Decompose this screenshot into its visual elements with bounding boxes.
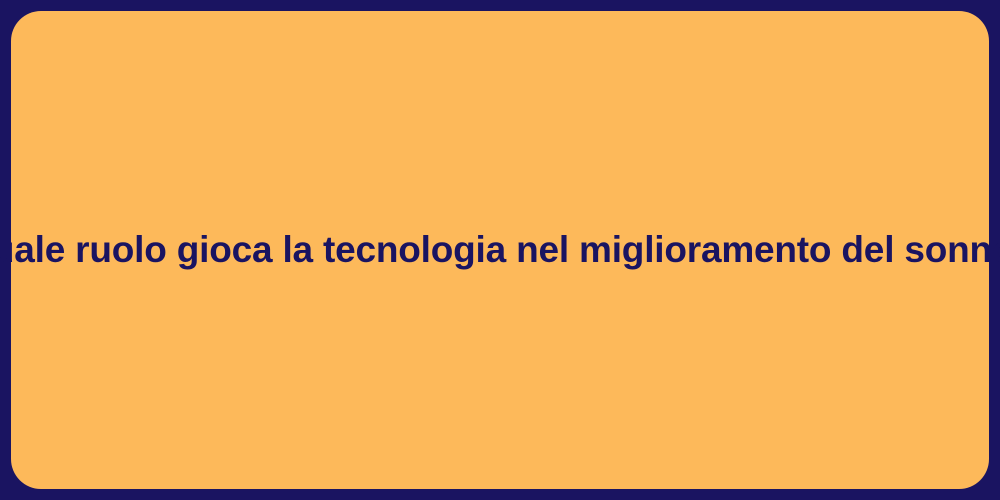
question-card: Quale ruolo gioca la tecnologia nel migl… xyxy=(11,11,989,489)
question-text: Quale ruolo gioca la tecnologia nel migl… xyxy=(0,227,1000,273)
outer-frame: Quale ruolo gioca la tecnologia nel migl… xyxy=(0,0,1000,500)
